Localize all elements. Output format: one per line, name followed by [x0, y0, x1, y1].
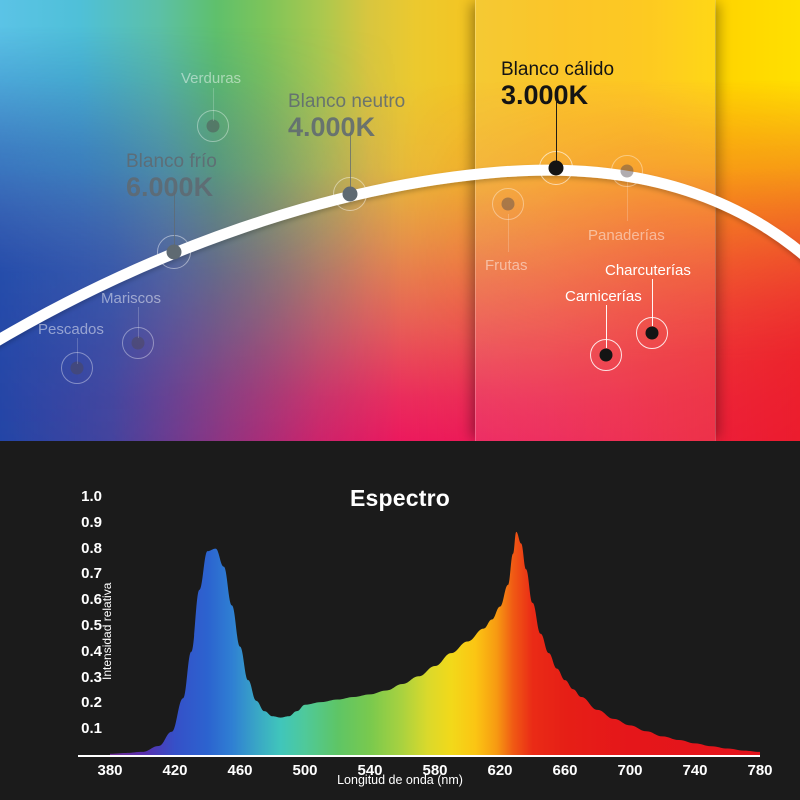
marker-stem-verduras — [213, 88, 214, 121]
kelvin-title-blanco-frio: Blanco frío — [126, 152, 217, 172]
label-blanco-frio: Blanco frío6.000K — [126, 152, 217, 202]
marker-dot-icon — [132, 337, 145, 350]
marker-stem-frutas — [508, 214, 509, 252]
marker-stem-mariscos — [138, 307, 139, 338]
marker-dot-icon — [621, 165, 634, 178]
marker-stem-carnicerias — [606, 305, 607, 348]
label-blanco-neutro: Blanco neutro4.000K — [288, 92, 405, 142]
marker-dot-icon — [600, 349, 613, 362]
label-carnicerias: Carnicerías — [565, 288, 642, 305]
kelvin-value-blanco-neutro: 4.000K — [288, 112, 405, 142]
label-verduras: Verduras — [181, 70, 241, 87]
kelvin-title-blanco-calido: Blanco cálido — [501, 60, 614, 80]
marker-dot-icon — [502, 198, 515, 211]
infographic-page: PescadosMariscosVerdurasFrutasPanaderías… — [0, 0, 800, 800]
color-temperature-arc — [0, 0, 800, 441]
marker-dot-icon — [207, 120, 220, 133]
marker-dot-icon — [646, 327, 659, 340]
spectrum-plot — [0, 441, 800, 800]
marker-stem-pescados — [77, 338, 78, 364]
marker-stem-panaderias — [627, 181, 628, 221]
label-pescados: Pescados — [38, 321, 104, 338]
kelvin-value-blanco-frio: 6.000K — [126, 172, 217, 202]
label-frutas: Frutas — [485, 257, 528, 274]
color-temperature-panel: PescadosMariscosVerdurasFrutasPanaderías… — [0, 0, 800, 441]
label-mariscos: Mariscos — [101, 290, 161, 307]
kelvin-title-blanco-neutro: Blanco neutro — [288, 92, 405, 112]
kelvin-value-blanco-calido: 3.000K — [501, 80, 614, 110]
spectrum-area — [110, 532, 760, 755]
marker-stem-blanco-calido — [556, 102, 557, 164]
marker-stem-charcuterias — [652, 279, 653, 326]
label-blanco-calido: Blanco cálido3.000K — [501, 60, 614, 110]
label-charcuterias: Charcuterías — [605, 262, 691, 279]
label-panaderias: Panaderías — [588, 227, 665, 244]
spectrum-chart-panel: Espectro Intensidad relativa Longitud de… — [0, 441, 800, 800]
